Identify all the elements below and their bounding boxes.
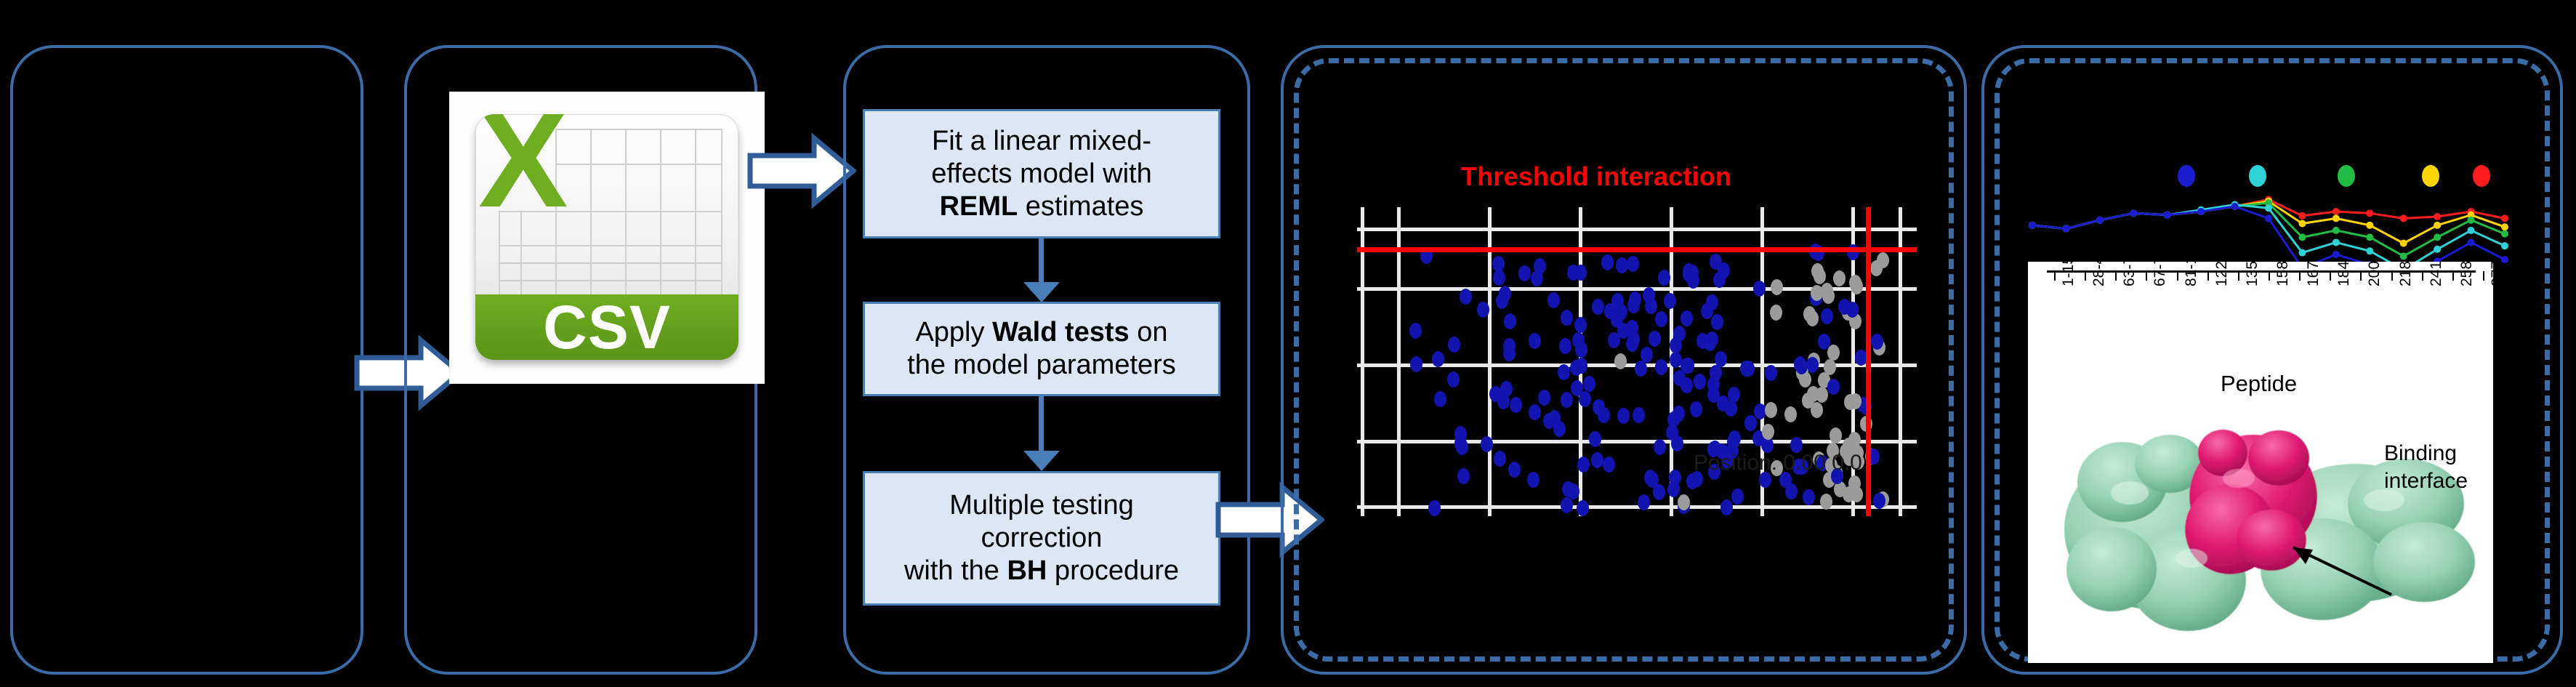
scatter-point <box>1822 288 1835 304</box>
data-point <box>2366 222 2373 229</box>
scatter-point <box>1678 494 1690 510</box>
data-point <box>2333 238 2340 246</box>
scatter-point <box>1561 310 1573 326</box>
data-point <box>2130 209 2137 217</box>
x-axis-tick <box>2207 271 2209 281</box>
scatter-point <box>1821 308 1833 324</box>
scatter-point <box>1460 289 1472 305</box>
scatter-point <box>1477 302 1489 318</box>
data-point <box>2468 238 2475 246</box>
scatter-point <box>1635 361 1647 377</box>
scatter-point <box>1658 270 1670 286</box>
x-axis-tick <box>2085 271 2086 281</box>
data-point <box>2366 247 2373 254</box>
scatter-point <box>1558 364 1570 380</box>
scatter-point <box>1617 408 1630 424</box>
data-point <box>2501 256 2508 263</box>
x-axis-tick-label: 167-180 <box>2305 262 2322 286</box>
scatter-point <box>1577 500 1589 516</box>
wald-bold: Wald tests <box>992 317 1130 347</box>
bh-line1: Multiple testing <box>949 490 1133 521</box>
scatter-point <box>1456 439 1468 455</box>
scatter-point <box>1655 311 1667 327</box>
scatter-point <box>1457 468 1470 484</box>
binding-line2: interface <box>2384 469 2468 493</box>
grid-line-h <box>1357 505 1917 509</box>
workflow-diagram: X CSV Fit a linear mixed- effects model … <box>0 0 2576 687</box>
scatter-point <box>1504 313 1516 329</box>
bh-line3-pre: with the <box>904 555 1007 586</box>
scatter-point <box>1710 254 1722 270</box>
scatter-point <box>1627 256 1639 272</box>
scatter-point <box>1603 457 1615 473</box>
data-point <box>2231 203 2239 210</box>
scatter-point <box>1771 279 1783 295</box>
scatter-point <box>1611 312 1623 328</box>
scatter-point <box>1561 497 1573 513</box>
scatter-point <box>1706 294 1718 310</box>
data-point <box>2333 214 2340 222</box>
x-axis-tick-label: 218-237 <box>2397 262 2415 286</box>
process-box-bh-correction[interactable]: Multiple testing correction with the BH … <box>863 471 1220 606</box>
scatter-point <box>1494 451 1506 467</box>
fit-line3: estimates <box>1018 191 1143 222</box>
scatter-point <box>1720 499 1733 515</box>
csv-x-glyph: X <box>478 114 565 212</box>
x-axis-tick <box>2360 271 2362 281</box>
scatter-point <box>1770 305 1782 321</box>
data-point <box>2501 214 2508 222</box>
scatter-point <box>1713 272 1726 288</box>
scatter-point <box>1538 390 1550 406</box>
x-axis-tick-label: 200-214 <box>2366 262 2383 286</box>
scatter-point <box>1848 475 1861 491</box>
x-axis-tick-label: 63-73 <box>2121 262 2138 286</box>
connector-2-arrowhead <box>1023 451 1060 471</box>
wald-line2: the model parameters <box>907 350 1176 380</box>
x-axis-tick-label: 28-44 <box>2090 262 2108 286</box>
scatter-point <box>1669 470 1681 486</box>
scatter-point <box>1811 263 1824 279</box>
x-axis-tick <box>2483 271 2484 281</box>
scatter-point <box>1518 265 1531 281</box>
scatter-point <box>1534 258 1546 274</box>
grid-line-v <box>1361 207 1364 516</box>
scatter-point <box>1753 281 1766 297</box>
csv-file-icon: X CSV <box>450 92 764 383</box>
x-axis-tick-label: 81-101 <box>2183 262 2200 286</box>
x-axis-tick-label: 184-199 <box>2335 262 2353 286</box>
grid-line-v <box>1397 207 1401 516</box>
scatter-point <box>1529 404 1541 420</box>
scatter-point <box>1670 352 1682 368</box>
scatter-point <box>1711 314 1723 330</box>
scatter-point <box>1608 332 1620 348</box>
data-point <box>2434 222 2441 229</box>
process-box-fit-model[interactable]: Fit a linear mixed- effects model with R… <box>863 109 1220 238</box>
scatter-point <box>1592 299 1604 315</box>
scatter-point <box>1807 386 1819 402</box>
scatter-point <box>1598 407 1610 423</box>
scatter-point <box>1571 380 1583 396</box>
scatter-point <box>1583 376 1595 392</box>
scatter-point <box>1448 337 1460 353</box>
data-point <box>2096 217 2104 224</box>
data-point <box>2298 212 2306 220</box>
scatter-point <box>1591 452 1603 468</box>
x-axis-tick <box>2452 271 2454 281</box>
x-axis-tick-label: 122-129 <box>2213 262 2231 286</box>
data-point <box>2265 214 2272 222</box>
scatter-point <box>1629 292 1641 308</box>
data-point <box>2434 213 2441 220</box>
scatter-point <box>1561 392 1573 408</box>
scatter-point <box>1493 270 1505 286</box>
scatter-point <box>1731 489 1744 505</box>
data-point <box>2197 208 2205 215</box>
scatter-point <box>1765 402 1777 418</box>
x-axis-tick <box>2146 271 2147 281</box>
bh-line3-post: procedure <box>1047 555 1179 586</box>
x-axis-tick-label: 158-166 <box>2274 262 2292 286</box>
scatter-point <box>1710 365 1722 381</box>
x-axis-tick <box>2238 271 2239 281</box>
data-point <box>2366 209 2373 217</box>
scatter-point <box>1508 462 1521 478</box>
scatter-point <box>1673 370 1686 386</box>
bh-bold: BH <box>1007 555 1047 586</box>
scatter-point <box>1409 323 1422 339</box>
grid-line-h <box>1357 228 1917 231</box>
scatter-point <box>1762 424 1774 440</box>
input-panel <box>10 45 363 675</box>
x-axis-tick <box>2299 271 2301 281</box>
x-axis-tick-label: 277-284 <box>2489 262 2493 286</box>
scatter-point <box>1577 457 1590 473</box>
scatter-point <box>1681 310 1693 326</box>
scatter-point <box>1510 397 1522 413</box>
scatter-point <box>1574 317 1587 333</box>
scatter-point <box>1690 401 1702 417</box>
scatter-point <box>1664 293 1676 309</box>
scatter-point <box>1784 406 1797 422</box>
scatter-point <box>1833 270 1846 286</box>
x-axis-tick <box>2177 271 2178 281</box>
fit-line2: effects model with <box>931 158 1151 189</box>
structure-figure: 1-1528-4463-7367-7581-101122-129135-1441… <box>2028 262 2493 663</box>
scatter-point <box>1410 356 1422 372</box>
scatter-point <box>1667 411 1680 427</box>
scatter-point <box>1673 326 1686 342</box>
scatter-point <box>1548 410 1561 426</box>
fit-bold-reml: REML <box>940 191 1018 222</box>
scatter-point <box>1589 431 1601 447</box>
legend-dot-series-yellow[interactable] <box>2422 165 2439 187</box>
x-axis-title: Peptide <box>2221 371 2297 397</box>
data-point <box>2400 252 2407 260</box>
data-point <box>2501 223 2508 230</box>
scatter-point <box>1614 353 1627 369</box>
scatter-point <box>1653 484 1665 500</box>
position-readout: Position: 0.00 0.0 <box>1694 451 1862 475</box>
grid-line-v <box>1488 207 1492 516</box>
data-point <box>2434 246 2441 253</box>
scatter-point <box>1616 257 1628 273</box>
scatter-point <box>1849 393 1861 409</box>
scatter-point <box>1492 256 1505 272</box>
scatter-point <box>1503 338 1516 354</box>
x-axis-tick <box>2391 271 2393 281</box>
scatter-point <box>1803 306 1816 322</box>
scatter-point <box>1570 360 1582 376</box>
data-point <box>2400 214 2407 222</box>
scatter-point <box>1649 331 1661 347</box>
scatter-point <box>1428 500 1441 516</box>
scatter-point <box>1497 393 1510 409</box>
legend-dot-series-blue[interactable] <box>2178 165 2195 187</box>
legend-dot-series-green[interactable] <box>2338 165 2355 187</box>
binding-line1: Binding <box>2384 441 2457 465</box>
scatter-point <box>1633 407 1645 423</box>
process-box-wald-tests[interactable]: Apply Wald tests on the model parameters <box>863 302 1220 396</box>
scatter-point <box>1811 285 1823 301</box>
scatter-point <box>1562 481 1574 497</box>
connector-2 <box>1039 396 1044 453</box>
data-point <box>2265 204 2272 212</box>
scatter-point <box>1827 379 1840 395</box>
data-point <box>2468 227 2475 234</box>
fit-line1: Fit a linear mixed- <box>932 126 1151 156</box>
scatter-point <box>1824 359 1836 375</box>
data-point <box>2501 230 2508 238</box>
data-point <box>2501 242 2508 249</box>
threshold-interaction-line <box>1357 247 1917 252</box>
scatter-point <box>1827 345 1840 361</box>
data-point <box>2333 227 2340 234</box>
csv-footer-label: CSV <box>475 294 738 360</box>
scatter-point <box>1499 286 1511 302</box>
threshold-interaction-label: Threshold interaction <box>1461 161 1731 192</box>
x-axis-tick-label: 135-144 <box>2244 262 2261 286</box>
wald-post: on <box>1130 317 1168 347</box>
data-point <box>2400 240 2407 247</box>
x-axis-tick-label: 258-266 <box>2458 262 2476 286</box>
threshold-state-line <box>1866 207 1871 516</box>
data-point <box>2298 220 2306 227</box>
x-axis-tick <box>2330 271 2331 281</box>
connector-1 <box>1039 238 1044 284</box>
scatter-point <box>1803 489 1815 505</box>
data-point <box>2029 222 2036 229</box>
scatter-point <box>1725 401 1737 417</box>
x-axis-tick <box>2422 271 2423 281</box>
data-point <box>2298 249 2306 257</box>
bh-line2: correction <box>981 523 1103 553</box>
scatter-point <box>1643 287 1655 303</box>
scatter-point <box>1654 439 1666 455</box>
y-tick-label: 0.0 <box>2028 262 2029 273</box>
data-point <box>2298 233 2306 241</box>
scatter-point <box>1627 332 1640 347</box>
data-point <box>2333 251 2340 258</box>
scatter-point <box>1434 391 1446 407</box>
legend-dot-series-red[interactable] <box>2473 165 2490 187</box>
scatter-point <box>1694 374 1706 390</box>
scatter-point <box>1742 361 1755 377</box>
scatter-point <box>1754 403 1766 419</box>
data-point <box>2062 225 2069 233</box>
x-axis-tick-label: 67-75 <box>2152 262 2169 286</box>
scatter-point <box>1574 265 1587 281</box>
data-point <box>2468 217 2475 224</box>
csv-card: X CSV <box>475 114 738 360</box>
binding-interface-label: Binding interface <box>2384 440 2468 495</box>
x-axis-tick <box>2054 271 2056 281</box>
peptide-line-chart[interactable] <box>2006 149 2515 276</box>
scatter-point <box>1559 338 1571 354</box>
x-axis-tick-label: 1-15 <box>2060 262 2077 286</box>
data-point <box>2366 233 2373 241</box>
scatter-point <box>1765 365 1777 381</box>
scatter-point <box>1851 278 1863 294</box>
legend-dot-series-cyan[interactable] <box>2249 165 2266 187</box>
data-point <box>2434 233 2441 241</box>
scatter-point <box>1547 292 1560 308</box>
wald-pre: Apply <box>915 317 992 347</box>
scatter-point <box>1744 415 1757 431</box>
x-axis-tick <box>2115 271 2117 281</box>
scatter-point <box>1529 333 1541 349</box>
scatter-point <box>1432 351 1444 367</box>
x-axis-tick-label: 241-257 <box>2428 262 2445 286</box>
scatter-point <box>1838 299 1851 315</box>
scatter-point <box>1870 260 1883 276</box>
scatter-point <box>1820 494 1832 510</box>
data-point <box>2333 208 2340 215</box>
scatter-point <box>1687 273 1699 289</box>
data-point <box>2164 212 2171 219</box>
scatter-point <box>1704 335 1716 351</box>
x-axis-tick <box>2269 271 2270 281</box>
scatter-point <box>1601 254 1614 270</box>
scatter-point <box>1527 472 1539 488</box>
grid-line-v <box>1899 207 1902 516</box>
scatter-point <box>1447 371 1460 387</box>
connector-1-arrowhead <box>1023 282 1060 302</box>
arrow-csv-to-stats <box>747 131 856 211</box>
scatter-point <box>1655 359 1667 375</box>
